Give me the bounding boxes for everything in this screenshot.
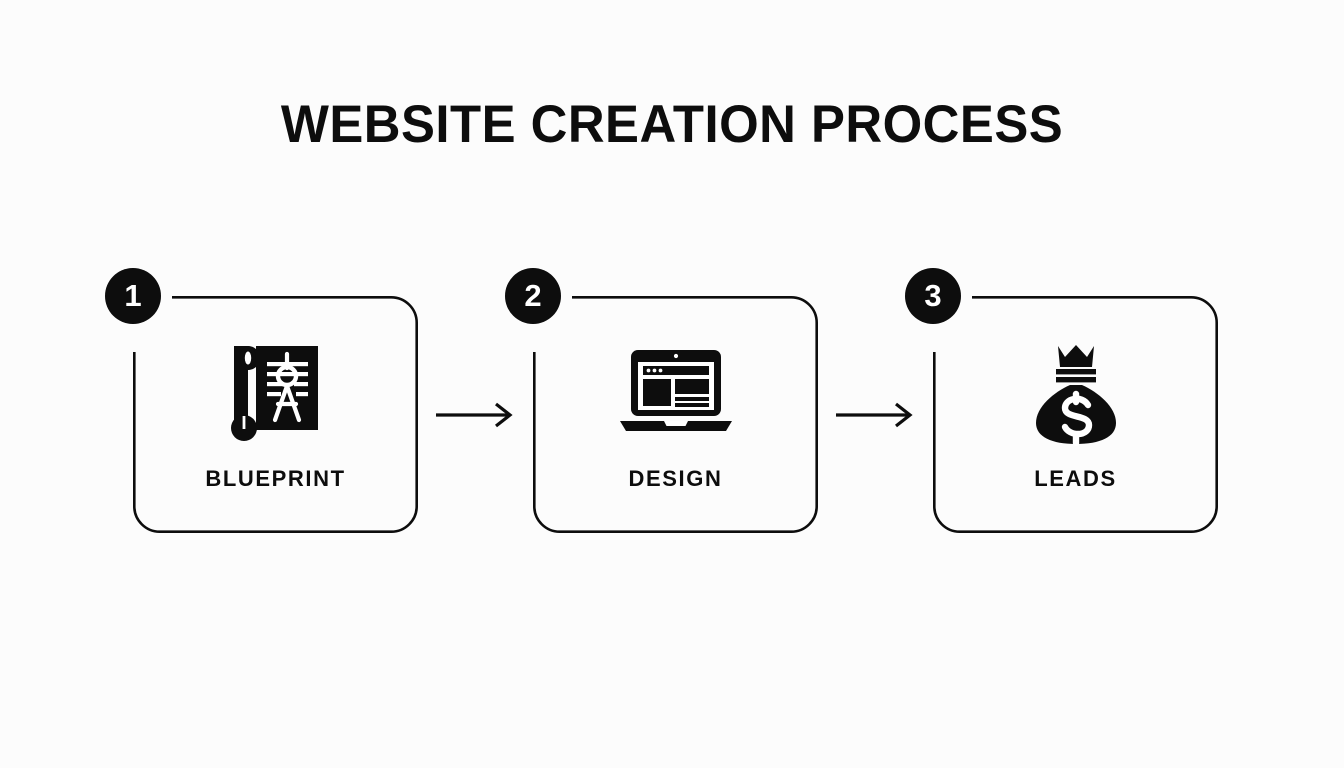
process-steps: BLUEPRINT 1: [0, 0, 1344, 768]
step-number: 1: [124, 280, 141, 311]
card-content: BLUEPRINT: [133, 296, 418, 533]
arrow-right-icon: [434, 400, 520, 430]
step-number-badge: 3: [905, 268, 961, 324]
step-label: DESIGN: [629, 466, 723, 492]
step-number: 2: [524, 280, 541, 311]
process-step-card-1[interactable]: BLUEPRINT 1: [133, 296, 418, 533]
blueprint-rolled-plan-compass-icon: [216, 338, 336, 450]
step-label: BLUEPRINT: [205, 466, 345, 492]
laptop-wireframe-icon: [616, 338, 736, 450]
card-content: DESIGN: [533, 296, 818, 533]
process-step-card-2[interactable]: DESIGN 2: [533, 296, 818, 533]
step-number: 3: [924, 280, 941, 311]
arrow-right-icon: [834, 400, 920, 430]
money-bag-dollar-icon: [1016, 338, 1136, 450]
card-content: LEADS: [933, 296, 1218, 533]
step-label: LEADS: [1034, 466, 1117, 492]
step-number-badge: 2: [505, 268, 561, 324]
step-number-badge: 1: [105, 268, 161, 324]
slide-canvas: WEBSITE CREATION PROCESS: [0, 0, 1344, 768]
process-step-card-3[interactable]: LEADS 3: [933, 296, 1218, 533]
